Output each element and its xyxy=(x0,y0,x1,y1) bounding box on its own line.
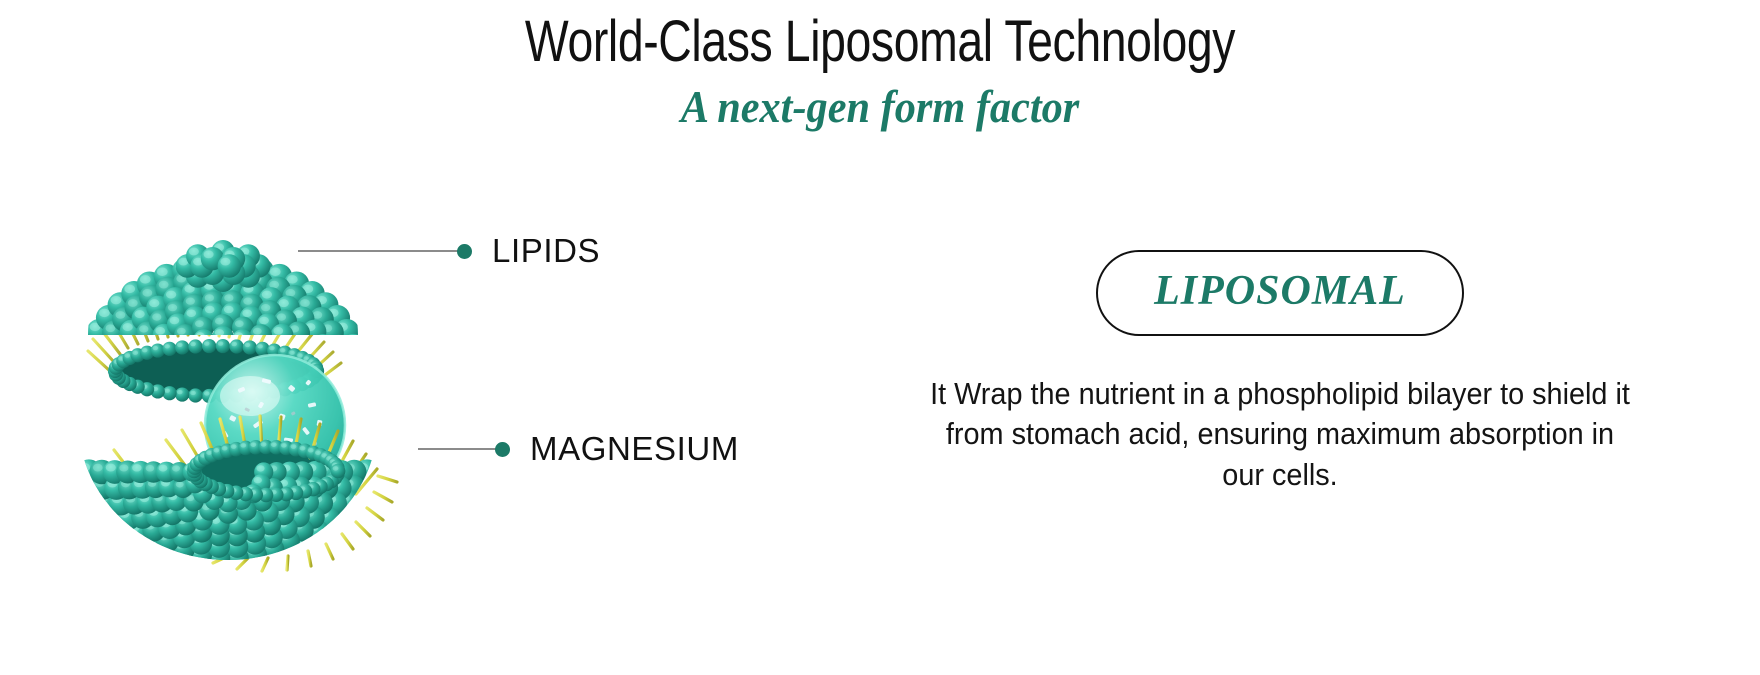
liposomal-badge: LIPOSOMAL xyxy=(1096,250,1464,336)
leader-dot-icon xyxy=(457,244,472,259)
leader-line-lipids xyxy=(298,250,458,252)
page-title: World-Class Liposomal Technology xyxy=(176,8,1584,75)
liposome-illustration xyxy=(70,120,540,590)
callout-label-lipids: LIPIDS xyxy=(492,232,600,270)
infographic-banner: World-Class Liposomal Technology A next-… xyxy=(0,0,1760,675)
leader-line-magnesium xyxy=(418,448,496,450)
callout-magnesium: MAGNESIUM xyxy=(418,430,739,468)
leader-dot-icon xyxy=(495,442,510,457)
callout-label-magnesium: MAGNESIUM xyxy=(530,430,739,468)
panel-description: It Wrap the nutrient in a phospholipid b… xyxy=(927,374,1634,495)
callout-lipids: LIPIDS xyxy=(298,232,600,270)
info-panel: LIPOSOMAL It Wrap the nutrient in a phos… xyxy=(900,250,1660,495)
